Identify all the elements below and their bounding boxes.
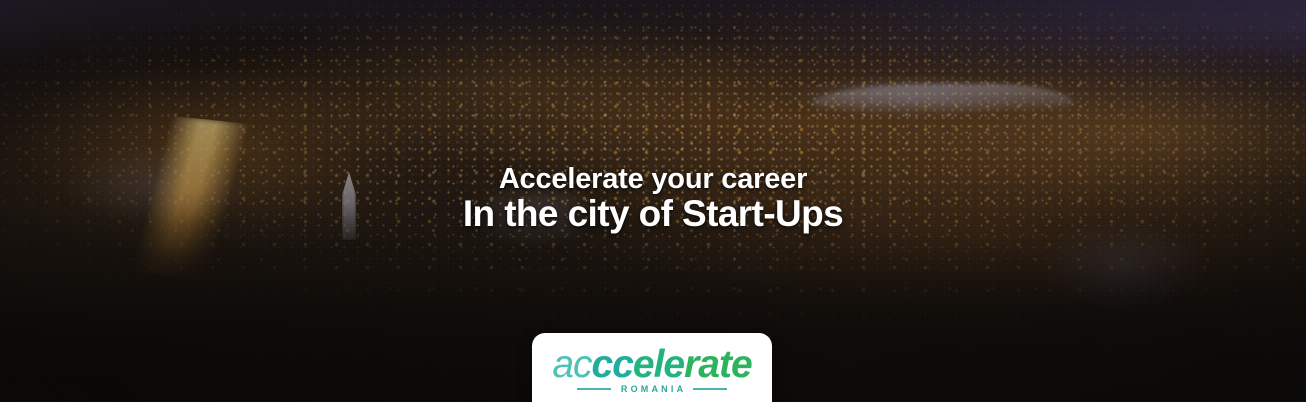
accelerate-logo-card[interactable]: acccelerate ROMANIA (532, 333, 772, 402)
hero-banner: Accelerate your career In the city of St… (0, 0, 1306, 402)
logo-wordmark-segment-4: rate (684, 343, 752, 386)
logo-wordmark-segment-1: ac (552, 343, 591, 386)
logo-rule-right-icon (693, 388, 727, 390)
logo-wordmark-segment-3: ele (633, 343, 684, 386)
logo-wordmark: acccelerate (532, 343, 772, 387)
logo-wordmark-segment-2: cc (592, 343, 633, 386)
logo-rule-left-icon (577, 388, 611, 390)
logo-subtitle-row: ROMANIA (532, 384, 772, 394)
logo-subtitle-text: ROMANIA (618, 384, 687, 394)
